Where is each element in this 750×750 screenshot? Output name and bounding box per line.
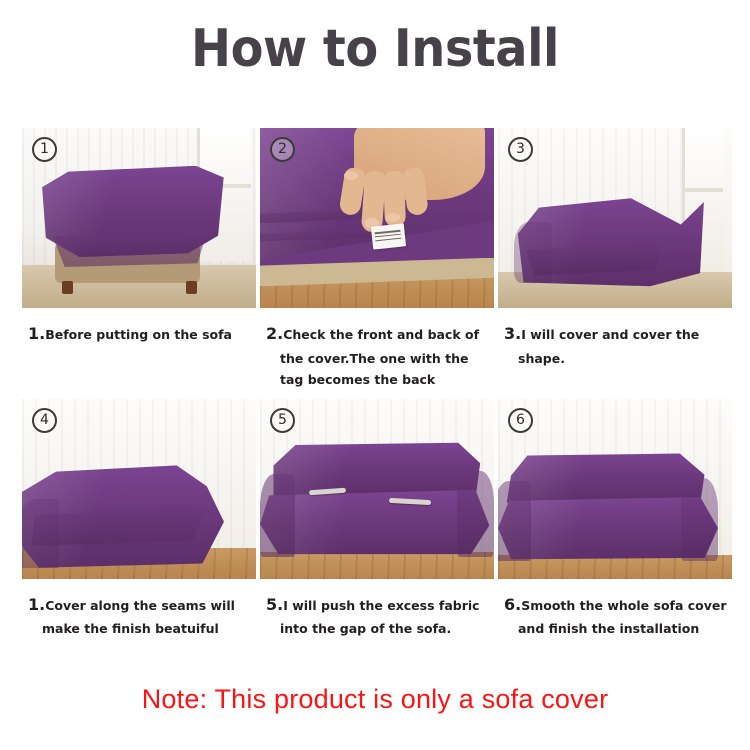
how-to-install-infographic: How to Install [0, 0, 750, 750]
step-number-2: 2. [266, 324, 283, 343]
step-badge-5: 5 [270, 408, 295, 433]
scene-room-1 [22, 128, 256, 308]
step-number-1: 1. [28, 324, 45, 343]
step-card-4: 4 1.Cover along the seams will make the … [22, 399, 256, 640]
step-caption-2: 2.Check the front and back of the cover.… [260, 308, 494, 391]
step-number-4: 1. [28, 595, 45, 614]
fingernail [386, 213, 400, 222]
step-line: I will cover and cover the [521, 327, 699, 342]
step-line: the cover.The one with the [266, 348, 492, 370]
sofa-cover-shadow [52, 232, 206, 268]
sofa-leg [186, 281, 198, 294]
scene-closeup-2 [260, 128, 494, 308]
step-caption-6: 6.Smooth the whole sofa cover and finish… [498, 579, 732, 640]
step-line: Before putting on the sofa [45, 327, 232, 342]
step-caption-5: 5.I will push the excess fabric into the… [260, 579, 494, 640]
sofa-cover-backrest [265, 442, 485, 496]
step-badge-4: 4 [32, 408, 57, 433]
sofa-cover-backrest [503, 453, 709, 503]
step-line: tag becomes the back [266, 369, 492, 391]
page-title: How to Install [30, 22, 720, 77]
sofa-cover-arm-left [498, 481, 531, 560]
step-number-5: 5. [266, 595, 283, 614]
care-label-tag [371, 224, 406, 251]
step-card-6: 6 6.Smooth the whole sofa cover and fini… [498, 399, 732, 640]
step-photo-2: 2 [260, 128, 494, 308]
sofa-cover-arm-left [260, 474, 295, 557]
step-badge-6: 6 [508, 408, 533, 433]
sofa-leg [62, 281, 74, 294]
step-line: into the gap of the sofa. [266, 618, 492, 640]
scene-room-3 [498, 128, 732, 308]
cover-arm-left [22, 499, 59, 567]
step-card-2: 2 2.Check the front and back of the cove… [260, 128, 494, 391]
step-photo-6: 6 [498, 399, 732, 579]
scene-room-4 [22, 399, 256, 579]
step-number-3: 3. [504, 324, 521, 343]
step-card-3: 3 3.I will cover and cover the shape. [498, 128, 732, 391]
step-card-5: 5 5.I will push the excess fabric into t… [260, 399, 494, 640]
step-line: I will push the excess fabric [283, 598, 479, 613]
step-caption-1: 1.Before putting on the sofa [22, 308, 256, 348]
scene-room-5 [260, 399, 494, 579]
sofa-cover-arm-right [681, 478, 718, 561]
step-card-1: 1 1.Before putting on the sofa [22, 128, 256, 391]
step-badge-2: 2 [270, 137, 295, 162]
step-line: Check the front and back of [283, 327, 479, 342]
step-line: Smooth the whole sofa cover [521, 598, 726, 613]
step-badge-1: 1 [32, 137, 57, 162]
step-line: shape. [504, 348, 730, 370]
steps-grid: 1 1.Before putting on the sofa [22, 128, 728, 640]
sofa-cover-arm-right [457, 471, 494, 557]
step-caption-3: 3.I will cover and cover the shape. [498, 308, 732, 369]
step-caption-4: 1.Cover along the seams will make the fi… [22, 579, 256, 640]
step-photo-4: 4 [22, 399, 256, 579]
step-number-6: 6. [504, 595, 521, 614]
step-line: make the finish beatuiful [28, 618, 254, 640]
step-photo-1: 1 [22, 128, 256, 308]
cover-arm-shadow [514, 222, 551, 283]
step-badge-3: 3 [508, 137, 533, 162]
step-line: Cover along the seams will [45, 598, 235, 613]
step-photo-5: 5 [260, 399, 494, 579]
step-photo-3: 3 [498, 128, 732, 308]
step-line: and finish the installation [504, 618, 730, 640]
product-note: Note: This product is only a sofa cover [0, 684, 750, 715]
scene-room-6 [498, 399, 732, 579]
